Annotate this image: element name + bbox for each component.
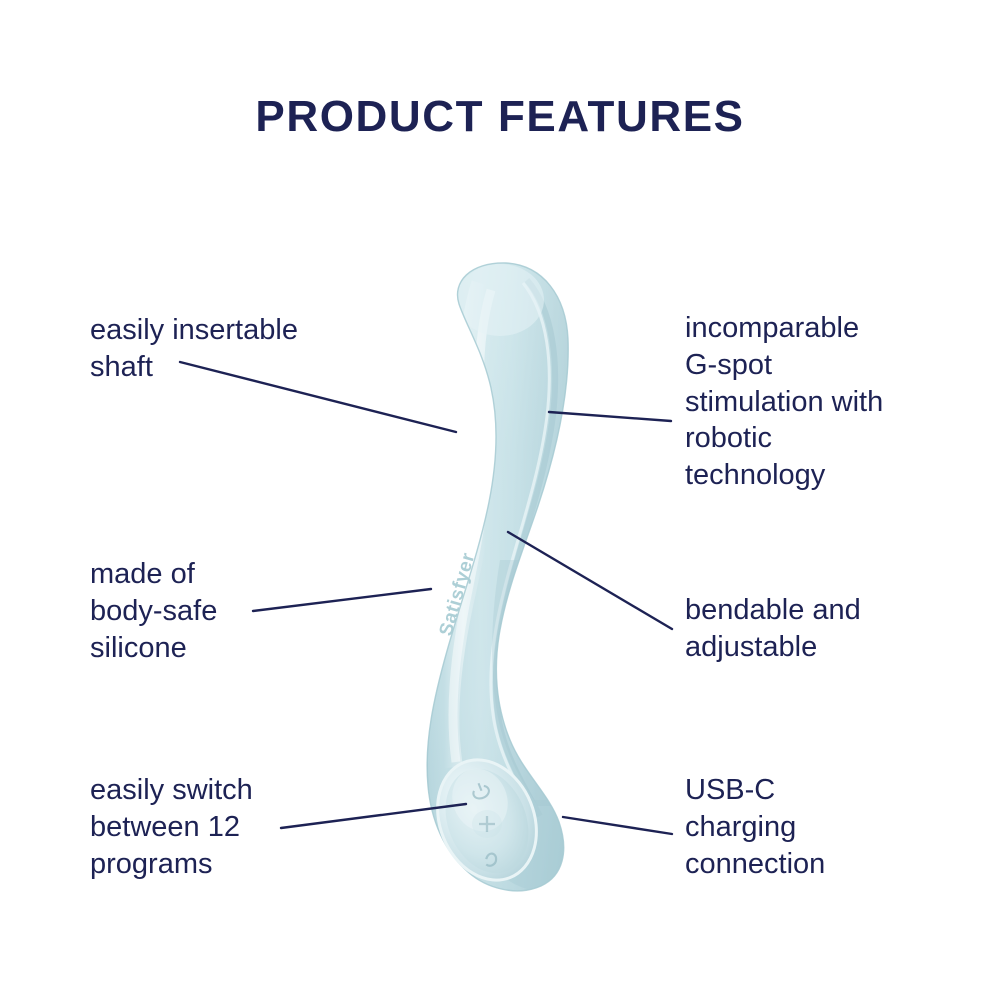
- power-icon[interactable]: [472, 783, 491, 800]
- wave-icon[interactable]: [483, 852, 498, 867]
- plus-icon[interactable]: [472, 810, 502, 838]
- page-title: PRODUCT FEATURES: [0, 92, 1000, 142]
- leader-line-bendable: [508, 532, 672, 629]
- control-panel-highlight: [443, 760, 517, 840]
- callout-g-spot-robotic: incomparable G-spot stimulation with rob…: [685, 310, 975, 494]
- callout-bendable-adjustable: bendable and adjustable: [685, 592, 975, 666]
- brand-wordmark: Satisfyer: [436, 550, 480, 638]
- product-features-infographic: PRODUCT FEATURES: [0, 0, 1000, 1000]
- product-silhouette: [427, 263, 568, 891]
- product-body: Satisfyer: [420, 255, 580, 900]
- callout-twelve-programs: easily switch between 12 programs: [90, 772, 390, 882]
- leader-line-usbc: [563, 817, 672, 834]
- control-panel-ring: [420, 745, 554, 895]
- control-panel-face: [431, 756, 544, 885]
- callout-usb-c-charging: USB-C charging connection: [685, 772, 975, 882]
- leader-line-gspot: [549, 412, 671, 421]
- callout-easily-insertable-shaft: easily insertable shaft: [90, 312, 380, 386]
- callout-body-safe-silicone: made of body-safe silicone: [90, 556, 350, 666]
- control-panel[interactable]: [420, 745, 554, 895]
